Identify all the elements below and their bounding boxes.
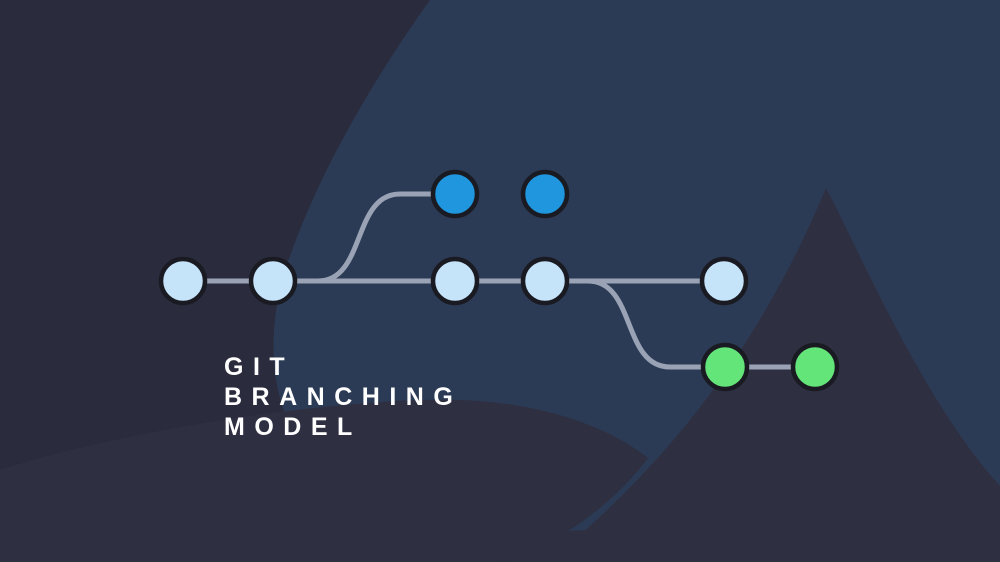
commit-node-c4[interactable]	[523, 259, 567, 303]
commit-node-c3[interactable]	[433, 259, 477, 303]
poster-canvas: GIT BRANCHING MODEL	[0, 0, 1000, 562]
commit-node-f2[interactable]	[523, 172, 567, 216]
commit-node-f1[interactable]	[433, 172, 477, 216]
git-branch-graph	[0, 0, 1000, 562]
commit-node-c5[interactable]	[702, 259, 746, 303]
title-line-2: BRANCHING	[224, 382, 644, 412]
title-line-3: MODEL	[224, 412, 644, 442]
title-line-1: GIT	[224, 352, 644, 382]
poster-title: GIT BRANCHING MODEL	[224, 352, 644, 442]
commit-node-c2[interactable]	[251, 259, 295, 303]
commit-node-r2[interactable]	[793, 345, 837, 389]
commit-node-c1[interactable]	[161, 259, 205, 303]
edge-c2-f1	[318, 194, 433, 281]
commit-node-r1[interactable]	[703, 345, 747, 389]
